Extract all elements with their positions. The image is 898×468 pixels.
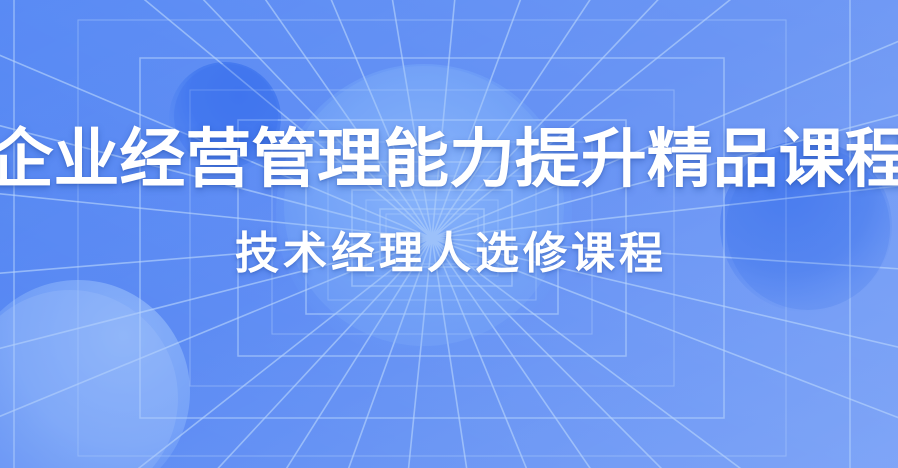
course-banner: 企业经营管理能力提升精品课程 技术经理人选修课程	[0, 0, 898, 468]
page-title: 企业经营管理能力提升精品课程	[0, 126, 898, 193]
page-subtitle: 技术经理人选修课程	[231, 231, 667, 277]
banner-text-layer: 企业经营管理能力提升精品课程 技术经理人选修课程	[0, 0, 898, 468]
